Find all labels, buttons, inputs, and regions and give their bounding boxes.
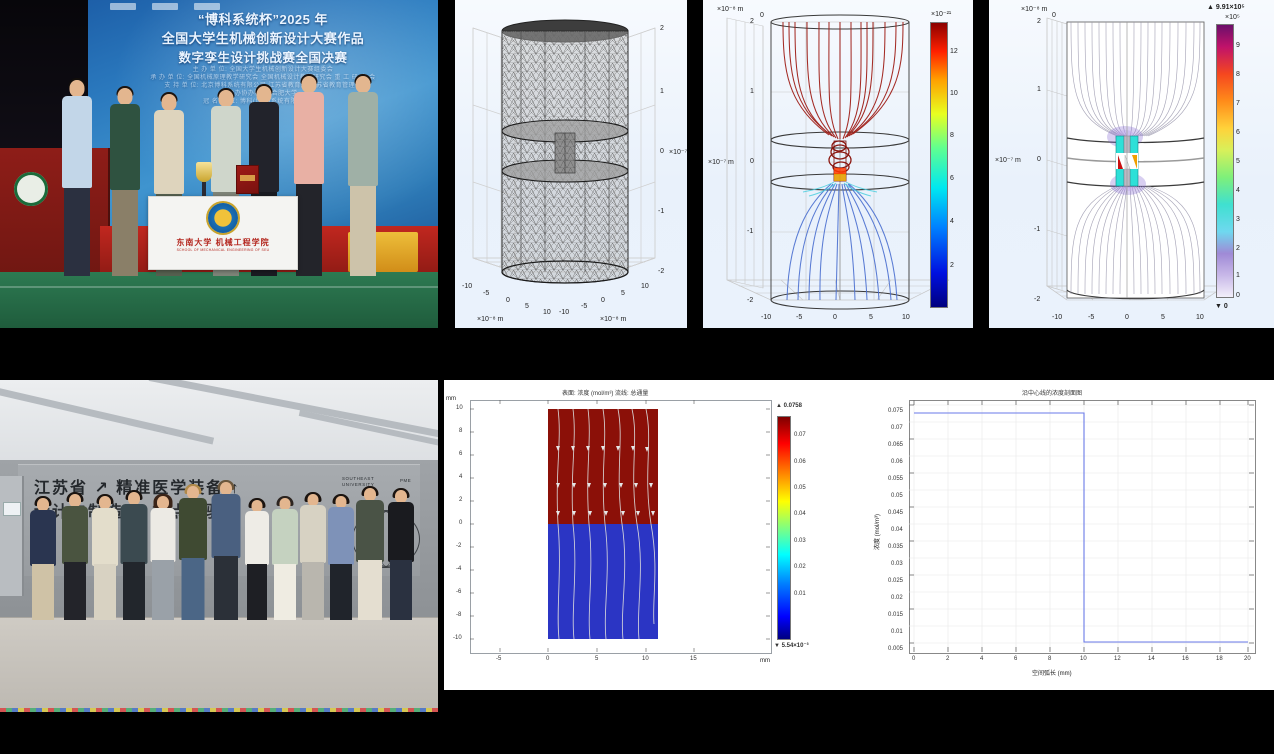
profile-xtick-14: 14 — [1148, 656, 1155, 662]
award-ceremony-photo: “博科系统杯”2025 年 全国大学生机械创新设计大赛作品 数字孪生设计挑战赛全… — [0, 0, 438, 328]
screen-title-line2: 全国大学生机械创新设计大赛作品 — [88, 28, 438, 47]
surface-ylabel: mm — [446, 396, 456, 402]
surface-ytick-0: 0 — [459, 520, 462, 526]
person — [103, 88, 147, 276]
profile-ytick-0045: 0.045 — [888, 510, 903, 516]
magnetic-field-3d-plot: ×10⁻⁸ m 0 2 1 0 -1 -2 ×10⁻⁷ m -10 -5 0 5… — [989, 0, 1274, 328]
stream-ztick-0: 0 — [750, 158, 754, 165]
mesh-ytick-m10: -10 — [559, 309, 569, 316]
field-top-exponent: ×10⁻⁸ m — [1021, 5, 1047, 13]
floor — [0, 617, 438, 712]
mesh-xtick-10: 10 — [543, 309, 551, 316]
person — [58, 494, 92, 620]
profile-ytick-0075: 0.075 — [888, 408, 903, 414]
profile-ytick-0025: 0.025 — [888, 578, 903, 584]
mesh-ztick-0: 0 — [660, 148, 664, 155]
surface-cb-tick-007: 0.07 — [794, 432, 806, 438]
surface-ytick-m8: -8 — [456, 612, 461, 618]
profile-ytick-005: 0.05 — [891, 493, 903, 499]
mesh-ztick-m1: -1 — [658, 208, 664, 215]
mesh-x-exponent: ×10⁻⁸ m — [477, 315, 503, 323]
surface-xtick-m5: -5 — [496, 656, 501, 662]
surface-title: 表面: 浓度 (mol/m³) 流线: 总通量 — [562, 388, 648, 397]
surface-cb-tick-005: 0.05 — [794, 485, 806, 491]
mesh-ztick-1: 1 — [660, 88, 664, 95]
surface-colorbar-max: ▲ 0.0758 — [776, 403, 802, 409]
stream-ztick-2: 2 — [750, 18, 754, 25]
screen-title-line3: 数字孪生设计挑战赛全国决赛 — [88, 47, 438, 66]
profile-ytick-0005: 0.005 — [888, 646, 903, 652]
stream-cb-tick-12: 12 — [950, 48, 958, 55]
stream-cb-tick-6: 6 — [950, 175, 954, 182]
field-ztick-1: 1 — [1037, 86, 1041, 93]
profile-xlabel: 空间弧长 (mm) — [1032, 668, 1072, 677]
stream-origin-label: 0 — [760, 12, 764, 19]
profile-xtick-8: 8 — [1048, 656, 1051, 662]
profile-xtick-4: 4 — [980, 656, 983, 662]
field-xtick-m5: -5 — [1088, 314, 1094, 321]
stream-cb-tick-4: 4 — [950, 218, 954, 225]
field-cb-tick-9: 9 — [1236, 42, 1240, 49]
mesh-ztick-2: 2 — [660, 25, 664, 32]
person — [175, 486, 211, 620]
profile-title: 沿中心线的浓度剖面图 — [1022, 388, 1082, 397]
field-cb-tick-1: 1 — [1236, 272, 1240, 279]
person — [384, 490, 418, 620]
surface-xtick-0: 0 — [546, 656, 549, 662]
surface-xtick-15: 15 — [690, 656, 697, 662]
mesh-xtick-5: 5 — [525, 303, 529, 310]
surface-cb-tick-003: 0.03 — [794, 538, 806, 544]
surface-ytick-m10: -10 — [453, 635, 462, 641]
surface-ytick-6: 6 — [459, 451, 462, 457]
surface-ytick-8: 8 — [459, 428, 462, 434]
field-ztick-0: 0 — [1037, 156, 1041, 163]
comsol-results-panel: 表面: 浓度 (mol/m³) 流线: 总通量 mm mm — [444, 380, 1274, 690]
profile-svg — [909, 400, 1254, 652]
field-xtick-10: 10 — [1196, 314, 1204, 321]
mesh-ytick-0: 0 — [601, 297, 605, 304]
stream-xtick-0: 0 — [833, 314, 837, 321]
stream-xtick-m5: -5 — [796, 314, 802, 321]
field-ztick-m2: -2 — [1034, 296, 1040, 303]
profile-ytick-0055: 0.055 — [888, 476, 903, 482]
profile-ytick-001: 0.01 — [891, 629, 903, 635]
banner-text: 东南大学 机械工程学院 — [149, 237, 297, 248]
profile-ytick-0035: 0.035 — [888, 544, 903, 550]
field-origin-label: 0 — [1052, 12, 1056, 19]
surface-ytick-m6: -6 — [456, 589, 461, 595]
stream-xtick-m10: -10 — [761, 314, 771, 321]
lab-group-photo: 江苏省 ↗ 精准医学装备 ↑ 设计与制造 ↗ 重点实验室 SOUTHEAST U… — [0, 380, 438, 712]
surface-xlabel: mm — [760, 658, 770, 664]
stream-ztick-1: 1 — [750, 88, 754, 95]
field-cb-tick-5: 5 — [1236, 158, 1240, 165]
profile-ytick-0015: 0.015 — [888, 612, 903, 618]
surface-ytick-10: 10 — [456, 405, 463, 411]
field-colorbar — [1216, 24, 1234, 298]
banner-subtext: SCHOOL OF MECHANICAL ENGINEERING OF SEU — [149, 248, 297, 252]
color-calibration-strip — [0, 708, 438, 712]
field-colorbar-min: ▼ 0 — [1215, 303, 1228, 310]
field-colorbar-max: ▲ 9.91×10⁵ — [1207, 4, 1245, 11]
profile-ytick-003: 0.03 — [891, 561, 903, 567]
mesh-xtick-m10: -10 — [462, 283, 472, 290]
surface-cb-tick-002: 0.02 — [794, 564, 806, 570]
field-cb-tick-8: 8 — [1236, 71, 1240, 78]
field-z-exponent: ×10⁻⁷ m — [995, 156, 1021, 164]
person — [26, 498, 60, 620]
surface-cb-tick-001: 0.01 — [794, 591, 806, 597]
person — [208, 482, 244, 620]
profile-xtick-6: 6 — [1014, 656, 1017, 662]
mesh-xtick-0: 0 — [506, 297, 510, 304]
profile-xtick-20: 20 — [1244, 656, 1251, 662]
stream-xtick-10: 10 — [902, 314, 910, 321]
stream-cb-tick-10: 10 — [950, 90, 958, 97]
field-xtick-0: 0 — [1125, 314, 1129, 321]
centerline-concentration-profile: 沿中心线的浓度剖面图 浓度 (mol/m³) 空间弧长 (mm) — [874, 380, 1274, 690]
profile-xtick-18: 18 — [1216, 656, 1223, 662]
stream-cb-tick-8: 8 — [950, 132, 954, 139]
pme-label: PME — [400, 478, 411, 483]
field-colorbar-exponent: ×10⁵ — [1225, 14, 1240, 21]
profile-ytick-002: 0.02 — [891, 595, 903, 601]
school-banner: 东南大学 机械工程学院 SCHOOL OF MECHANICAL ENGINEE… — [148, 196, 298, 270]
field-cb-tick-3: 3 — [1236, 216, 1240, 223]
profile-ylabel: 浓度 (mol/m³) — [872, 514, 881, 550]
surface-svg — [470, 400, 770, 652]
field-cb-tick-2: 2 — [1236, 245, 1240, 252]
stream-cb-tick-2: 2 — [950, 262, 954, 269]
surface-cb-tick-006: 0.06 — [794, 459, 806, 465]
surface-colorbar-min: ▼ 5.54×10⁻³ — [774, 642, 809, 649]
stream-ztick-m1: -1 — [747, 228, 753, 235]
mesh-ytick-5: 5 — [621, 290, 625, 297]
surface-cb-tick-004: 0.04 — [794, 511, 806, 517]
profile-ytick-004: 0.04 — [891, 527, 903, 533]
field-cb-tick-4: 4 — [1236, 187, 1240, 194]
surface-colorbar — [777, 416, 791, 640]
profile-ytick-006: 0.06 — [891, 459, 903, 465]
mesh-3d-svg — [455, 0, 687, 328]
field-ztick-m1: -1 — [1034, 226, 1040, 233]
profile-xtick-12: 12 — [1114, 656, 1121, 662]
field-ztick-2: 2 — [1037, 18, 1041, 25]
field-cb-tick-6: 6 — [1236, 129, 1240, 136]
mesh-ztick-m2: -2 — [658, 268, 664, 275]
person — [352, 488, 388, 620]
profile-ytick-007: 0.07 — [891, 425, 903, 431]
stream-xtick-5: 5 — [869, 314, 873, 321]
stream-top-exponent: ×10⁻⁸ m — [717, 5, 743, 13]
surface-ytick-m4: -4 — [456, 566, 461, 572]
screen-title-line1: “博科系统杯”2025 年 — [88, 9, 438, 28]
person — [340, 76, 386, 276]
person — [55, 80, 99, 276]
profile-xtick-2: 2 — [946, 656, 949, 662]
surface-xtick-10: 10 — [642, 656, 649, 662]
concentration-surface-plot: 表面: 浓度 (mol/m³) 流线: 总通量 mm mm — [444, 380, 844, 690]
field-cb-tick-0: 0 — [1236, 292, 1240, 299]
mesh-y-exponent: ×10⁻⁸ m — [600, 315, 626, 323]
mesh-3d-plot: 2 1 0 -1 -2 ×10⁻⁷ m -10 -5 0 5 10 -10 -5… — [455, 0, 687, 328]
wall-notice — [3, 502, 21, 516]
profile-xtick-0: 0 — [912, 656, 915, 662]
profile-ytick-0065: 0.065 — [888, 442, 903, 448]
field-xtick-5: 5 — [1161, 314, 1165, 321]
mesh-ytick-10: 10 — [641, 283, 649, 290]
stream-colorbar-exponent: ×10⁻²¹ — [931, 10, 951, 18]
profile-xtick-16: 16 — [1182, 656, 1189, 662]
stream-ztick-m2: -2 — [747, 297, 753, 304]
surface-ytick-4: 4 — [459, 474, 462, 480]
door — [0, 476, 24, 596]
field-xtick-m10: -10 — [1052, 314, 1062, 321]
profile-xtick-10: 10 — [1080, 656, 1087, 662]
streamline-3d-plot: ×10⁻⁸ m 0 2 1 0 -1 -2 ×10⁻⁷ m -10 -5 0 5… — [703, 0, 973, 328]
stage-floor — [0, 272, 438, 328]
surface-xtick-5: 5 — [595, 656, 598, 662]
field-cb-tick-7: 7 — [1236, 100, 1240, 107]
certificate — [236, 165, 259, 194]
surface-ytick-2: 2 — [459, 497, 462, 503]
mesh-z-exponent: ×10⁻⁷ m — [669, 148, 687, 156]
stream-colorbar — [930, 22, 948, 308]
surface-ytick-m2: -2 — [456, 543, 461, 549]
mesh-xtick-m5: -5 — [483, 290, 489, 297]
school-seal — [208, 203, 238, 233]
mesh-ytick-m5: -5 — [581, 303, 587, 310]
stream-z-exponent: ×10⁻⁷ m — [708, 158, 734, 166]
